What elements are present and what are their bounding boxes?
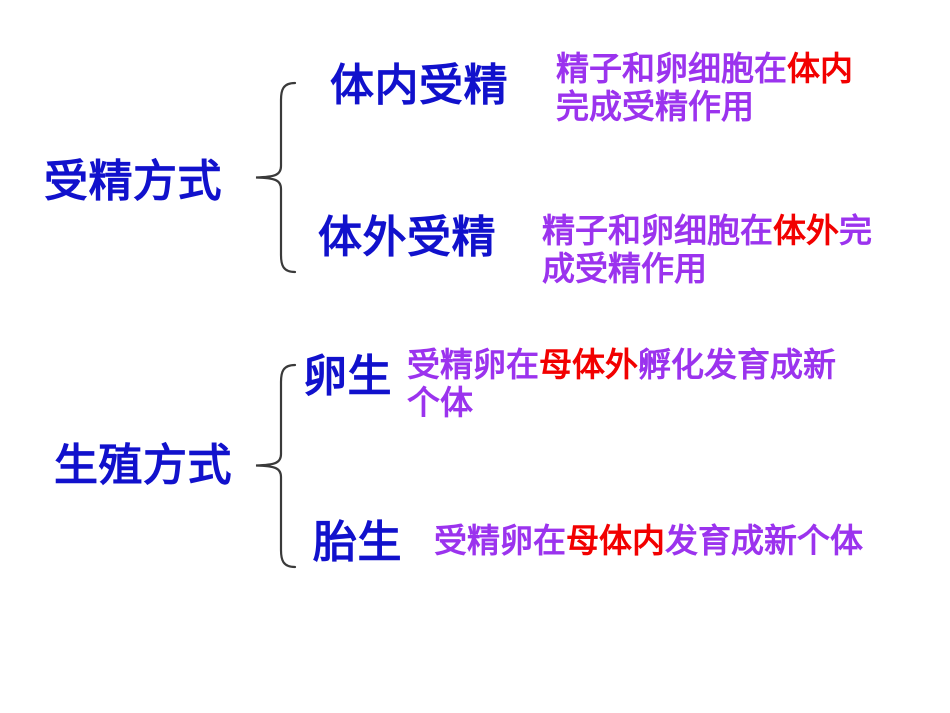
brace-reproduction bbox=[253, 362, 298, 570]
branch-label-viviparity: 胎生 bbox=[313, 521, 402, 565]
description-segment-highlight: 母体外 bbox=[539, 345, 638, 384]
description-segment: 发育成新个体 bbox=[665, 521, 863, 560]
description-external-fertilization: 精子和卵细胞在体外完 成受精作用 bbox=[542, 212, 942, 289]
slide-canvas: 受精方式 体内受精 精子和卵细胞在体内 完成受精作用 体外受精 精子和卵细胞在体… bbox=[0, 0, 950, 713]
description-internal-fertilization: 精子和卵细胞在体内 完成受精作用 bbox=[556, 50, 946, 127]
description-oviparity: 受精卵在母体外孵化发育成新 个体 bbox=[407, 346, 947, 423]
root-label-reproduction: 生殖方式 bbox=[54, 444, 232, 488]
description-line: 完成受精作用 bbox=[556, 88, 946, 126]
description-line: 个体 bbox=[407, 384, 947, 422]
description-line: 精子和卵细胞在体内 bbox=[556, 50, 946, 88]
description-viviparity: 受精卵在母体内发育成新个体 bbox=[434, 522, 944, 560]
description-segment-highlight: 母体内 bbox=[566, 521, 665, 560]
description-line: 受精卵在母体内发育成新个体 bbox=[434, 522, 944, 560]
description-line: 受精卵在母体外孵化发育成新 bbox=[407, 346, 947, 384]
root-label-fertilization: 受精方式 bbox=[44, 160, 222, 204]
description-segment: 受精卵在 bbox=[407, 345, 539, 384]
description-segment-highlight: 体内 bbox=[787, 49, 853, 88]
description-segment: 成受精作用 bbox=[542, 249, 707, 288]
description-segment: 精子和卵细胞在 bbox=[542, 211, 773, 250]
description-segment: 完成受精作用 bbox=[556, 87, 754, 126]
description-segment: 孵化发育成新 bbox=[638, 345, 836, 384]
description-segment: 精子和卵细胞在 bbox=[556, 49, 787, 88]
description-line: 成受精作用 bbox=[542, 250, 942, 288]
description-line: 精子和卵细胞在体外完 bbox=[542, 212, 942, 250]
branch-label-internal-fertilization: 体内受精 bbox=[330, 64, 508, 108]
description-segment: 受精卵在 bbox=[434, 521, 566, 560]
branch-label-oviparity: 卵生 bbox=[303, 355, 392, 399]
brace-fertilization bbox=[253, 80, 298, 275]
description-segment-highlight: 体外 bbox=[773, 211, 839, 250]
branch-label-external-fertilization: 体外受精 bbox=[318, 216, 496, 260]
description-segment: 完 bbox=[839, 211, 872, 250]
description-segment: 个体 bbox=[407, 383, 473, 422]
